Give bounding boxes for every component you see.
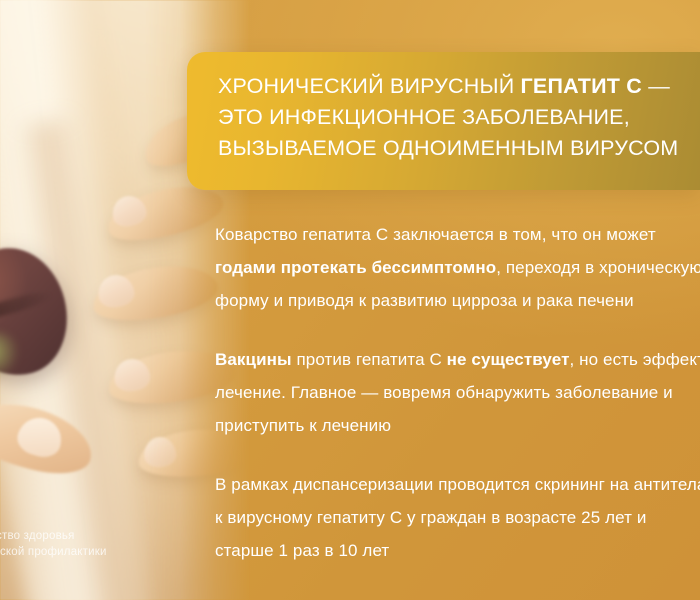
headline-text: ХРОНИЧЕСКИЙ ВИРУСНЫЙ ГЕПАТИТ С — ЭТО ИНФ… [218, 71, 700, 164]
paragraph-vakciny-line-1-mid: против гепатита С [292, 350, 447, 369]
paragraph-vakciny: Вакцины против гепатита С не существует,… [215, 343, 700, 442]
paragraph-vakciny-bold-a: Вакцины [215, 350, 292, 369]
watermark-line-2: и медицинской профилактики [0, 544, 107, 560]
paragraph-kovarstvo-line-1: Коварство гепатита С заключается в том, … [215, 218, 700, 251]
headline-line-1-bold: ГЕПАТИТ С [521, 74, 642, 98]
paragraph-kovarstvo: Коварство гепатита С заключается в том, … [215, 218, 700, 317]
infographic-poster: ХРОНИЧЕСКИЙ ВИРУСНЫЙ ГЕПАТИТ С — ЭТО ИНФ… [0, 0, 700, 600]
headline-line-1-prefix: ХРОНИЧЕСКИЙ ВИРУСНЫЙ [218, 74, 521, 98]
headline-line-3: ВЫЗЫВАЕМОЕ ОДНОИМЕННЫМ ВИРУСОМ [218, 133, 700, 164]
paragraph-kovarstvo-line-2-rest: , переходя в хроническую [496, 258, 700, 277]
paragraph-vakciny-line-2: лечение. Главное — вовремя обнаружить за… [215, 376, 700, 409]
headline-line-1-suffix: — [642, 74, 670, 98]
watermark-line-1: Министерство здоровья [0, 528, 107, 544]
paragraph-vakciny-bold-b: не существует [447, 350, 570, 369]
paragraph-kovarstvo-line-2: годами протекать бессимптомно, переходя … [215, 251, 700, 284]
paragraph-kovarstvo-line-3: форму и приводя к развитию цирроза и рак… [215, 284, 700, 317]
paragraph-dispanserizaciya-line-2: к вирусному гепатиту С у граждан в возра… [215, 501, 700, 534]
headline-banner: ХРОНИЧЕСКИЙ ВИРУСНЫЙ ГЕПАТИТ С — ЭТО ИНФ… [187, 52, 700, 190]
paragraph-vakciny-line-1: Вакцины против гепатита С не существует,… [215, 343, 700, 376]
headline-line-2: ЭТО ИНФЕКЦИОННОЕ ЗАБОЛЕВАНИЕ, [218, 102, 700, 133]
headline-line-1: ХРОНИЧЕСКИЙ ВИРУСНЫЙ ГЕПАТИТ С — [218, 71, 700, 102]
body-copy: Коварство гепатита С заключается в том, … [215, 218, 700, 567]
paragraph-vakciny-line-3: приступить к лечению [215, 409, 700, 442]
watermark: Министерство здоровья и медицинской проф… [0, 528, 107, 560]
paragraph-dispanserizaciya-line-3: старше 1 раз в 10 лет [215, 534, 700, 567]
paragraph-vakciny-line-1-rest: , но есть эффективное [570, 350, 700, 369]
paragraph-dispanserizaciya: В рамках диспансеризации проводится скри… [215, 468, 700, 567]
paragraph-kovarstvo-bold: годами протекать бессимптомно [215, 258, 496, 277]
paragraph-dispanserizaciya-line-1: В рамках диспансеризации проводится скри… [215, 468, 700, 501]
